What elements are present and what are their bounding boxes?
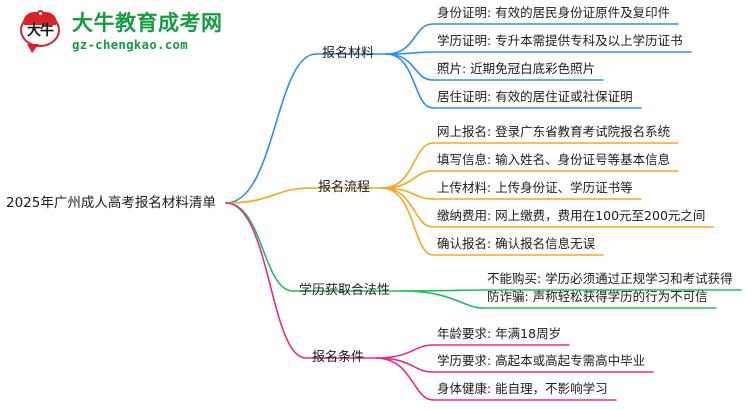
- mindmap-leaf-4-1[interactable]: 年龄要求: 年满18周岁: [437, 326, 561, 341]
- mindmap-leaf-1-2[interactable]: 学历证明: 专升本需提供专科及以上学历证书: [437, 33, 683, 48]
- mindmap-connector: [226, 203, 306, 358]
- mindmap-leaf-1-1[interactable]: 身份证明: 有效的居民身份证原件及复印件: [437, 5, 670, 20]
- mindmap-branch-1[interactable]: 报名材料: [322, 46, 374, 62]
- mindmap-connector: [386, 54, 433, 80]
- mindmap-leaf-4-2[interactable]: 学历要求: 高起本或高起专需高中毕业: [437, 353, 645, 368]
- mindmap-leaf-2-1[interactable]: 网上报名: 登录广东省教育考试院报名系统: [437, 124, 670, 139]
- mindmap-leaf-3-2[interactable]: 防诈骗: 声称轻松获得学历的行为不可信: [487, 289, 708, 304]
- mindmap-root-node[interactable]: 2025年广州成人高考报名材料清单: [6, 195, 216, 211]
- mindmap-connector: [226, 54, 316, 203]
- mindmap-branch-4[interactable]: 报名条件: [312, 350, 364, 366]
- mindmap-leaf-1-3[interactable]: 照片: 近期免冠白底彩色照片: [437, 61, 595, 76]
- mindmap-connector: [376, 358, 433, 400]
- mindmap-connector: [376, 345, 433, 358]
- mindmap-leaf-4-3[interactable]: 身体健康: 能自理，不影响学习: [437, 381, 608, 396]
- mindmap-leaf-1-4[interactable]: 居住证明: 有效的居住证或社保证明: [437, 89, 633, 104]
- mindmap-connector: [386, 24, 433, 54]
- mindmap-leaf-2-3[interactable]: 上传材料: 上传身份证、学历证书等: [437, 180, 633, 195]
- mindmap-canvas: 2025年广州成人高考报名材料清单 报名材料身份证明: 有效的居民身份证原件及复…: [0, 0, 750, 410]
- mindmap-connector: [382, 143, 433, 188]
- mindmap-connector: [382, 188, 433, 227]
- mindmap-connector: [402, 291, 483, 308]
- mindmap-leaf-2-5[interactable]: 确认报名: 确认报名信息无误: [437, 236, 595, 251]
- mindmap-branch-3[interactable]: 学历获取合法性: [299, 283, 390, 299]
- mindmap-leaf-2-2[interactable]: 填写信息: 输入姓名、身份证号等基本信息: [437, 152, 670, 167]
- mindmap-leaf-2-4[interactable]: 缴纳费用: 网上缴费，费用在100元至200元之间: [437, 208, 705, 223]
- mindmap-leaf-3-1[interactable]: 不能购买: 学历必须通过正规学习和考试获得: [487, 271, 733, 286]
- mindmap-connector: [226, 188, 312, 203]
- mindmap-branch-2[interactable]: 报名流程: [318, 180, 370, 196]
